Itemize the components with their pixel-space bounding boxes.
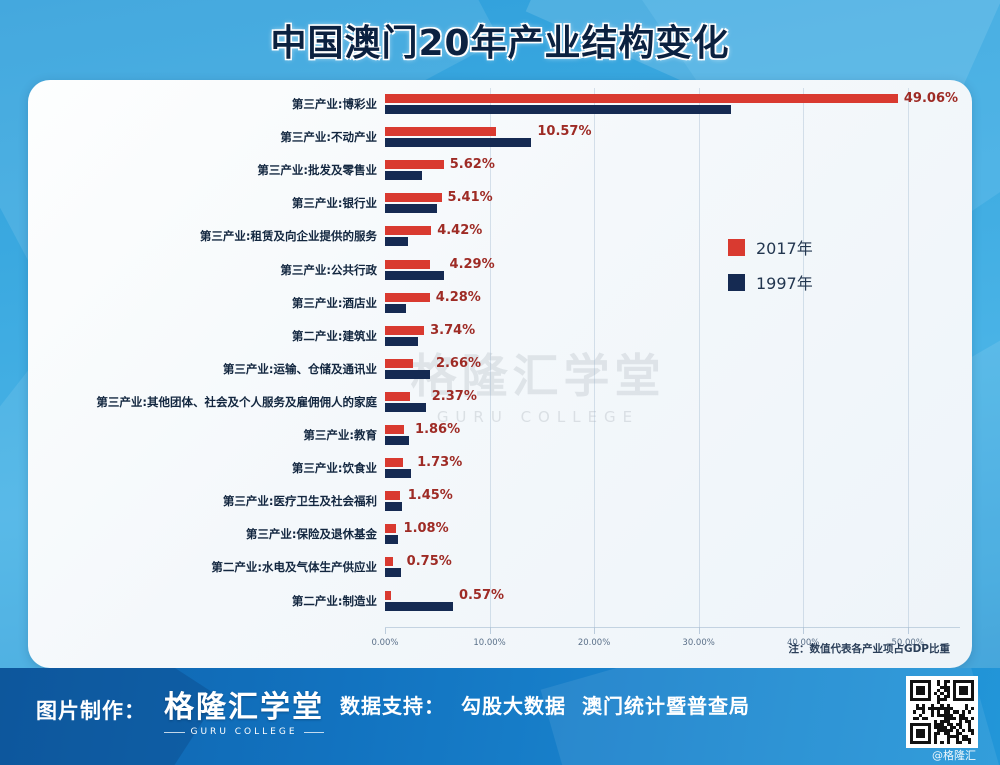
category-label: 第三产业:饮食业 [292, 460, 377, 476]
tick-mark [385, 628, 386, 634]
bar-2017[interactable] [385, 491, 400, 500]
qr-module [971, 741, 974, 744]
category-label: 第三产业:公共行政 [280, 262, 377, 278]
bar-2017[interactable] [385, 425, 404, 434]
value-label: 1.73% [417, 455, 462, 470]
legend-label: 1997年 [756, 270, 813, 294]
brand-rule: GURU COLLEGE [164, 727, 324, 737]
category-label: 第三产业:其他团体、社会及个人服务及雇佣佣人的家庭 [96, 394, 377, 410]
bar-2017[interactable] [385, 127, 496, 136]
bar-row: 第三产业:医疗卫生及社会福利1.45% [385, 489, 960, 513]
brand-name: 格隆汇学堂 [164, 682, 324, 726]
bar-2017[interactable] [385, 160, 444, 169]
bar-1997[interactable] [385, 271, 444, 280]
bar-2017[interactable] [385, 94, 898, 103]
chart-legend[interactable]: 2017年1997年 [728, 235, 813, 305]
bar-row: 第三产业:银行业5.41% [385, 191, 960, 215]
x-axis-line [385, 627, 960, 628]
bar-row: 第三产业:饮食业1.73% [385, 456, 960, 480]
bar-1997[interactable] [385, 602, 453, 611]
data-source-primary: 勾股大数据 [461, 690, 566, 719]
tick-mark [490, 628, 491, 634]
bar-2017[interactable] [385, 260, 430, 269]
bar-row: 第三产业:不动产业10.57% [385, 125, 960, 149]
bar-2017[interactable] [385, 392, 410, 401]
category-label: 第三产业:博彩业 [292, 96, 377, 112]
tick-mark [908, 628, 909, 634]
value-label: 1.45% [408, 488, 453, 503]
bar-row: 第三产业:公共行政4.29% [385, 258, 960, 282]
rule-line-right [304, 732, 325, 733]
bar-row: 第三产业:博彩业49.06% [385, 92, 960, 116]
category-label: 第三产业:医疗卫生及社会福利 [223, 493, 377, 509]
bar-1997[interactable] [385, 436, 409, 445]
bar-1997[interactable] [385, 138, 531, 147]
legend-item-2017年[interactable]: 2017年 [728, 235, 813, 259]
social-handle: @格隆汇 [932, 747, 976, 763]
bar-2017[interactable] [385, 591, 391, 600]
category-label: 第二产业:建筑业 [292, 328, 377, 344]
chart-panel: 格隆汇学堂 GURU COLLEGE 0.00%10.00%20.00%30.0… [28, 80, 972, 668]
category-label: 第二产业:制造业 [292, 593, 377, 609]
bar-1997[interactable] [385, 370, 430, 379]
bar-1997[interactable] [385, 502, 402, 511]
bar-2017[interactable] [385, 293, 430, 302]
category-label: 第三产业:银行业 [292, 195, 377, 211]
tick-mark [699, 628, 700, 634]
data-source-secondary: 澳门统计暨普查局 [582, 690, 750, 719]
bar-1997[interactable] [385, 535, 398, 544]
category-label: 第二产业:水电及气体生产供应业 [211, 559, 377, 575]
bar-1997[interactable] [385, 568, 401, 577]
category-label: 第三产业:酒店业 [292, 295, 377, 311]
value-label: 0.57% [459, 588, 504, 603]
value-label: 4.28% [436, 290, 481, 305]
bar-row: 第二产业:建筑业3.74% [385, 324, 960, 348]
brand-subtitle: GURU COLLEGE [191, 727, 298, 737]
bar-row: 第三产业:教育1.86% [385, 423, 960, 447]
bar-1997[interactable] [385, 304, 406, 313]
category-label: 第三产业:租赁及向企业提供的服务 [200, 228, 377, 244]
value-label: 49.06% [904, 91, 958, 106]
bar-1997[interactable] [385, 469, 411, 478]
bar-1997[interactable] [385, 403, 426, 412]
bar-row: 第二产业:制造业0.57% [385, 589, 960, 613]
category-label: 第三产业:不动产业 [280, 129, 377, 145]
bar-1997[interactable] [385, 105, 731, 114]
bar-row: 第二产业:水电及气体生产供应业0.75% [385, 555, 960, 579]
category-label: 第三产业:保险及退休基金 [246, 526, 377, 542]
bar-2017[interactable] [385, 193, 442, 202]
value-label: 5.62% [450, 157, 495, 172]
legend-item-1997年[interactable]: 1997年 [728, 270, 813, 294]
brand-logo: 格隆汇学堂 GURU COLLEGE [164, 682, 324, 737]
bar-row: 第三产业:酒店业4.28% [385, 291, 960, 315]
bar-row: 第三产业:租赁及向企业提供的服务4.42% [385, 224, 960, 248]
bar-2017[interactable] [385, 326, 424, 335]
chart-footnote: 注：数值代表各产业项占GDP比重 [788, 641, 950, 656]
bar-2017[interactable] [385, 458, 403, 467]
legend-swatch-icon [728, 274, 745, 291]
category-label: 第三产业:教育 [303, 427, 377, 443]
bar-2017[interactable] [385, 557, 393, 566]
data-source-block: 数据支持： 勾股大数据 澳门统计暨普查局 [340, 690, 750, 719]
legend-label: 2017年 [756, 235, 813, 259]
bar-1997[interactable] [385, 337, 418, 346]
value-label: 5.41% [448, 190, 493, 205]
value-label: 10.57% [537, 124, 591, 139]
value-label: 1.08% [404, 521, 449, 536]
legend-swatch-icon [728, 239, 745, 256]
value-label: 4.29% [450, 257, 495, 272]
bar-1997[interactable] [385, 237, 408, 246]
bar-row: 第三产业:保险及退休基金1.08% [385, 522, 960, 546]
rule-line-left [164, 732, 185, 733]
page-title: 中国澳门20年产业结构变化 [0, 14, 1000, 66]
page-footer: 图片制作： 格隆汇学堂 GURU COLLEGE 数据支持： 勾股大数据 澳门统… [0, 668, 1000, 765]
value-label: 3.74% [430, 323, 475, 338]
value-label: 2.66% [436, 356, 481, 371]
bar-2017[interactable] [385, 226, 431, 235]
bar-2017[interactable] [385, 359, 413, 368]
tick-mark [594, 628, 595, 634]
x-axis-tick-label: 0.00% [371, 638, 398, 648]
bar-1997[interactable] [385, 204, 437, 213]
x-axis-tick-label: 30.00% [682, 638, 714, 648]
x-axis-tick-label: 20.00% [578, 638, 610, 648]
category-label: 第三产业:批发及零售业 [257, 162, 377, 178]
value-label: 4.42% [437, 223, 482, 238]
bar-row: 第三产业:运输、仓储及通讯业2.66% [385, 357, 960, 381]
qr-code-icon[interactable] [906, 676, 978, 748]
bar-chart-plot-area: 0.00%10.00%20.00%30.00%40.00%50.00% 第三产业… [385, 88, 960, 628]
bar-row: 第三产业:批发及零售业5.62% [385, 158, 960, 182]
x-axis-tick-label: 10.00% [473, 638, 505, 648]
bar-1997[interactable] [385, 171, 422, 180]
data-support-label: 数据支持： [340, 690, 445, 719]
value-label: 2.37% [432, 389, 477, 404]
value-label: 0.75% [407, 554, 452, 569]
bar-row: 第三产业:其他团体、社会及个人服务及雇佣佣人的家庭2.37% [385, 390, 960, 414]
category-label: 第三产业:运输、仓储及通讯业 [223, 361, 377, 377]
made-by-label: 图片制作： [36, 695, 146, 725]
qr-code-block[interactable]: @格隆汇 [906, 676, 978, 748]
value-label: 1.86% [415, 422, 460, 437]
footer-credit-block: 图片制作： 格隆汇学堂 GURU COLLEGE [36, 682, 324, 737]
tick-mark [803, 628, 804, 634]
bar-2017[interactable] [385, 524, 396, 533]
